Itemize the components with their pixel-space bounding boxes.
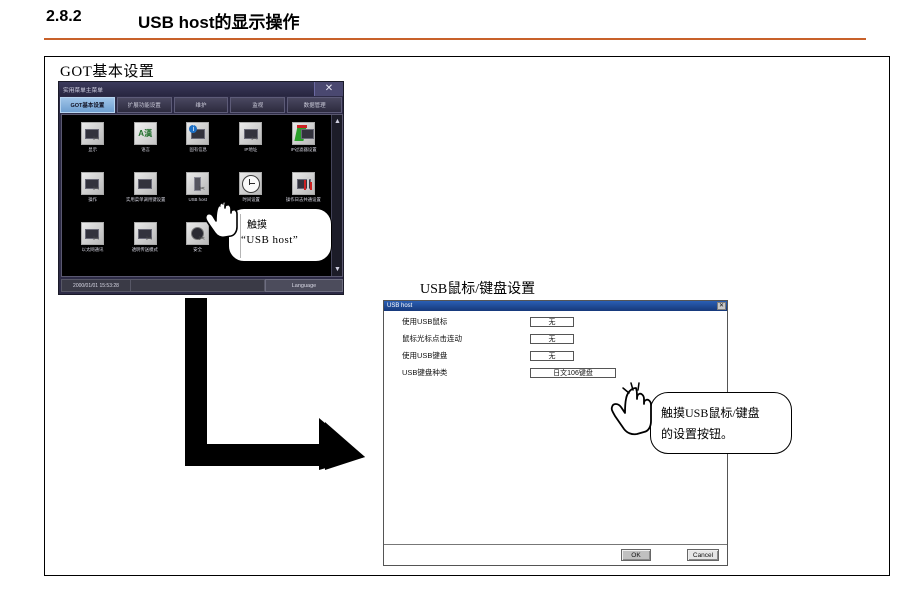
- icon-item-ip-address[interactable]: ✂ IP地址: [224, 117, 277, 167]
- dialog-titlebar: USB host ✕: [384, 301, 727, 311]
- tab-monitor[interactable]: 监视: [230, 97, 285, 113]
- language-button[interactable]: Language: [265, 279, 343, 292]
- vertical-scrollbar[interactable]: ▲ ▼: [331, 115, 342, 276]
- ethernet-icon: ✂: [81, 222, 104, 245]
- icon-label: 固有信息: [189, 147, 206, 153]
- icon-label: 操作日志共通设置: [286, 197, 321, 203]
- callout-line-1: 触摸USB鼠标/键盘: [661, 404, 760, 421]
- icon-label: 安全: [194, 247, 203, 253]
- got-status-bar: 2000/01/01 15:53:28 Language: [61, 279, 343, 292]
- page-title: 2.8.2 USB host的显示操作: [46, 8, 864, 36]
- icon-item-operation[interactable]: ✂ 操作: [66, 167, 119, 217]
- got-tab-bar: GOT基本设置 扩展功能设置 维护 监视 数据管理: [59, 96, 343, 113]
- info-icon: i: [186, 122, 209, 145]
- field-label: USB键盘种类: [402, 367, 447, 378]
- field-value-button[interactable]: 无: [530, 351, 574, 361]
- field-row-use-usb-keyboard: 使用USB键盘 无: [384, 347, 727, 364]
- flow-arrow: [185, 298, 365, 470]
- icon-item-ethernet[interactable]: ✂ 以太网通讯: [66, 217, 119, 267]
- icon-item-utility-call-key[interactable]: 实用菜单调用键设置: [119, 167, 172, 217]
- clock-icon: [239, 172, 262, 195]
- language-icon: A漢: [134, 122, 157, 145]
- icon-item-language[interactable]: A漢 语言: [119, 117, 172, 167]
- dialog-footer: OK Cancel: [384, 544, 727, 565]
- callout-line-2: 的设置按钮。: [661, 425, 733, 442]
- heading-divider: [44, 38, 866, 40]
- hand-pointer-icon: [196, 196, 240, 240]
- field-label: 鼠标光标点击连动: [402, 333, 462, 344]
- icon-label: 操作: [88, 197, 97, 203]
- got-panel-caption: GOT基本设置: [60, 60, 154, 81]
- icon-label: 显示: [88, 147, 97, 153]
- icon-item-ip-filter[interactable]: IP过滤器设置: [277, 117, 330, 167]
- field-row-usb-keyboard-type: USB键盘种类 日文106键盘: [384, 364, 727, 381]
- close-icon[interactable]: ✕: [314, 82, 343, 96]
- icon-label: 实用菜单调用键设置: [126, 197, 165, 203]
- status-datetime: 2000/01/01 15:53:28: [61, 279, 131, 292]
- icon-label: 以太网通讯: [81, 247, 103, 253]
- status-filler: [131, 279, 265, 292]
- callout-usb-host: 触摸 “USB host”: [228, 208, 332, 262]
- section-number: 2.8.2: [46, 8, 82, 26]
- section-title: USB host的显示操作: [138, 8, 300, 33]
- utility-key-icon: [134, 172, 157, 195]
- field-value-button[interactable]: 无: [530, 317, 574, 327]
- icon-item-display[interactable]: ✂ 显示: [66, 117, 119, 167]
- transparent-mode-icon: ✂: [134, 222, 157, 245]
- hand-pointer-icon: [603, 380, 655, 440]
- icon-item-inherent-info[interactable]: i 固有信息: [172, 117, 225, 167]
- tab-got-basic-settings[interactable]: GOT基本设置: [60, 97, 115, 113]
- field-value-button[interactable]: 日文106键盘: [530, 368, 616, 378]
- callout-line-1: 触摸: [247, 216, 267, 231]
- tab-data-management[interactable]: 数据管理: [287, 97, 342, 113]
- scroll-up-icon[interactable]: ▲: [333, 117, 342, 126]
- ok-button[interactable]: OK: [621, 549, 651, 561]
- dialog-caption: USB鼠标/键盘设置: [420, 278, 535, 298]
- callout-line-2: “USB host”: [241, 234, 298, 246]
- field-value-button[interactable]: 无: [530, 334, 574, 344]
- dialog-fields: 使用USB鼠标 无 鼠标光标点击连动 无 使用USB键盘 无 USB键盘种类 日…: [384, 313, 727, 381]
- got-window-titlebar: 实用菜单主菜单 ✕: [59, 82, 343, 96]
- operation-icon: ✂: [81, 172, 104, 195]
- icon-row: ✂ 显示 A漢 语言 i 固有信息: [66, 117, 330, 167]
- oplog-icon: [292, 172, 315, 195]
- got-window-title: 实用菜单主菜单: [63, 85, 103, 94]
- dialog-title: USB host: [387, 303, 412, 309]
- icon-label: 时间设置: [242, 197, 259, 203]
- icon-label: IP地址: [244, 147, 257, 153]
- field-label: 使用USB键盘: [402, 350, 447, 361]
- field-row-cursor-click-link: 鼠标光标点击连动 无: [384, 330, 727, 347]
- got-utility-window: 实用菜单主菜单 ✕ GOT基本设置 扩展功能设置 维护 监视 数据管理 ✂ 显示…: [58, 81, 344, 295]
- scroll-down-icon[interactable]: ▼: [333, 265, 342, 274]
- icon-label: IP过滤器设置: [291, 147, 317, 153]
- cancel-button[interactable]: Cancel: [687, 549, 719, 561]
- ip-address-icon: ✂: [239, 122, 262, 145]
- icon-label: 透明传送模式: [132, 247, 158, 253]
- icon-label: 语言: [141, 147, 150, 153]
- field-label: 使用USB鼠标: [402, 316, 447, 327]
- tab-extended-function-settings[interactable]: 扩展功能设置: [117, 97, 172, 113]
- display-icon: ✂: [81, 122, 104, 145]
- field-row-use-usb-mouse: 使用USB鼠标 无: [384, 313, 727, 330]
- ip-filter-icon: [292, 122, 315, 145]
- tab-maintenance[interactable]: 维护: [174, 97, 229, 113]
- callout-touch-settings-button: 触摸USB鼠标/键盘 的设置按钮。: [650, 392, 792, 454]
- close-icon[interactable]: ✕: [717, 302, 726, 310]
- usb-host-icon: ✂: [186, 172, 209, 195]
- icon-item-transparent-mode[interactable]: ✂ 透明传送模式: [119, 217, 172, 267]
